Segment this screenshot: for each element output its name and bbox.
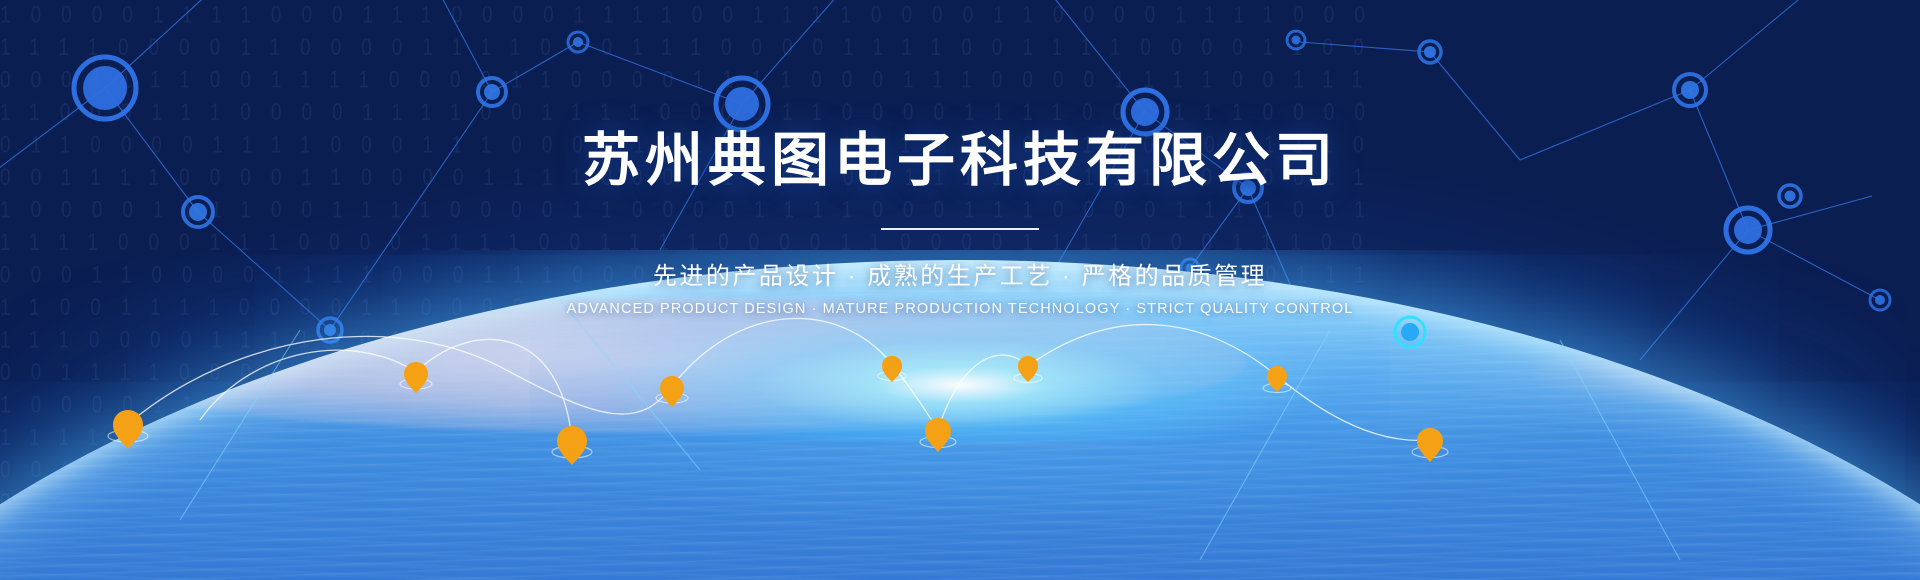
subtitle-english: ADVANCED PRODUCT DESIGN · MATURE PRODUCT… bbox=[0, 301, 1920, 317]
page-title: 苏州典图电子科技有限公司 bbox=[0, 0, 1920, 192]
subtitle-chinese: 先进的产品设计 · 成熟的生产工艺 · 严格的品质管理 bbox=[0, 256, 1920, 291]
title-divider bbox=[881, 228, 1039, 230]
banner-content: 苏州典图电子科技有限公司 先进的产品设计 · 成熟的生产工艺 · 严格的品质管理… bbox=[0, 0, 1920, 317]
hero-banner: 1000011110001110000111100111100001100001… bbox=[0, 0, 1920, 580]
